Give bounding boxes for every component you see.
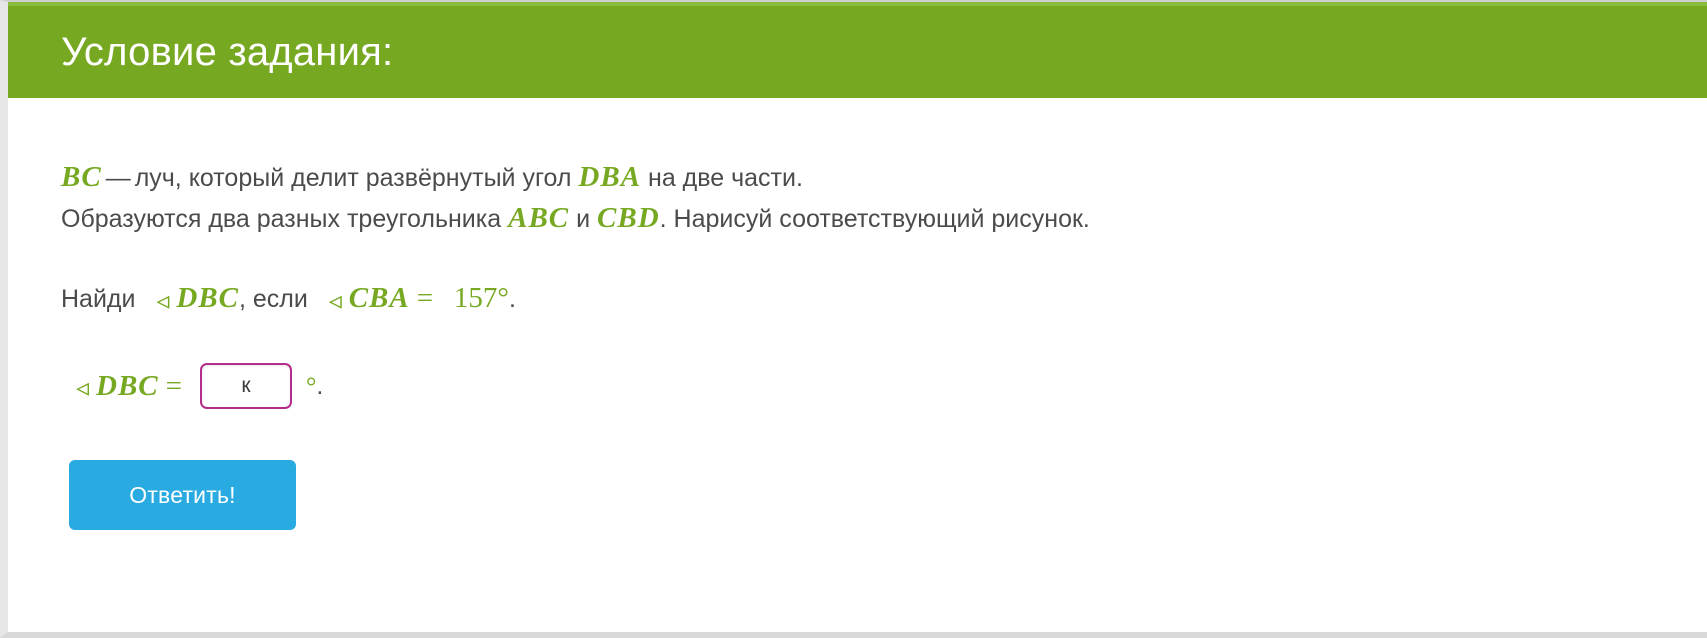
- sentence-period: .: [509, 285, 516, 313]
- math-unknown-angle-dbc: DBC: [176, 282, 239, 314]
- math-known-angle-cba: CBA: [349, 282, 410, 314]
- problem-statement-line-1: BC—луч, который делит развёрнутый угол D…: [61, 157, 803, 199]
- degree-symbol: °: [306, 366, 316, 407]
- equals-sign: =: [417, 282, 433, 314]
- math-triangle-abc: ABC: [508, 202, 569, 234]
- line1-text-b: на две части.: [648, 164, 803, 192]
- angle-symbol-icon-3: ◃: [76, 368, 89, 409]
- problem-statement-line-2: Образуются два разных треугольника ABC и…: [61, 198, 1090, 240]
- answer-equals-sign: =: [166, 366, 182, 407]
- task-body: BC—луч, который делит развёрнутый угол D…: [8, 98, 1707, 632]
- line2-text-a: Образуются два разных треугольника: [61, 205, 501, 233]
- line2-text-b: . Нарисуй соответствующий рисунок.: [660, 205, 1090, 233]
- exercise-card: Условие задания: BC—луч, который делит р…: [0, 0, 1707, 638]
- math-angle-dba: DBA: [578, 161, 641, 193]
- math-triangle-cbd: CBD: [597, 202, 660, 234]
- answer-label-dbc: DBC: [96, 366, 159, 407]
- label-if: , если: [239, 285, 308, 313]
- page-title: Условие задания:: [8, 32, 393, 72]
- answer-period: .: [316, 366, 323, 407]
- known-angle-value: 157°: [454, 282, 509, 314]
- problem-question-line: Найди ◃ DBC, если ◃ CBA = 157°.: [61, 278, 516, 320]
- exercise-page: Условие задания: BC—луч, который делит р…: [0, 0, 1707, 638]
- submit-answer-button[interactable]: Ответить!: [69, 460, 296, 530]
- task-header-bar: Условие задания:: [8, 2, 1707, 98]
- label-find: Найди: [61, 285, 135, 313]
- angle-symbol-icon: ◃: [156, 281, 169, 322]
- em-dash: —: [102, 164, 135, 192]
- math-ray-bc: BC: [61, 161, 102, 193]
- line1-text-a: луч, который делит развёрнутый угол: [135, 164, 572, 192]
- conjunction-and: и: [576, 205, 590, 233]
- answer-input[interactable]: [200, 363, 292, 409]
- answer-row: ◃ DBC = °.: [76, 363, 323, 409]
- angle-symbol-icon-2: ◃: [329, 281, 342, 322]
